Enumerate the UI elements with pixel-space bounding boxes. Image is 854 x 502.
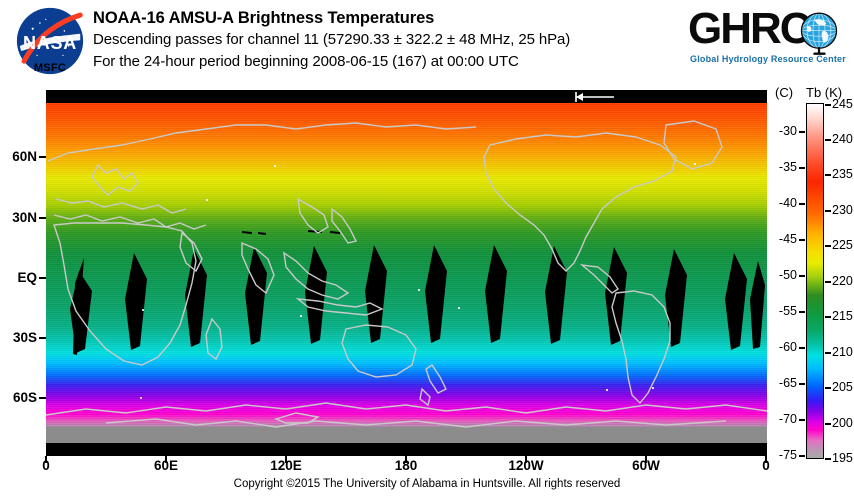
globe-icon bbox=[796, 10, 842, 56]
colorbar-clabel-m60: -60 bbox=[765, 340, 797, 354]
ghrc-logo-tagline: Global Hydrology Resource Center bbox=[690, 54, 846, 64]
y-label-30n: 30N bbox=[0, 210, 37, 225]
page-title: NOAA-16 AMSU-A Brightness Temperatures bbox=[93, 8, 693, 29]
colorbar-ctick-m35 bbox=[799, 167, 805, 169]
colorbar-ktick-205 bbox=[825, 387, 831, 389]
y-tick-60n bbox=[39, 156, 46, 158]
y-tick-30s bbox=[39, 337, 46, 339]
colorbar-klabel-205: 205 bbox=[832, 380, 854, 394]
colorbar-ctick-m30 bbox=[799, 131, 805, 133]
colorbar-klabel-220: 220 bbox=[832, 274, 854, 288]
colorbar-ctick-m65 bbox=[799, 383, 805, 385]
colorbar-ktick-220 bbox=[825, 281, 831, 283]
y-tick-60s bbox=[39, 397, 46, 399]
colorbar-ktick-225 bbox=[825, 245, 831, 247]
colorbar-celsius-header: (C) bbox=[775, 85, 793, 100]
colorbar-klabel-210: 210 bbox=[832, 345, 854, 359]
colorbar-clabel-m70: -70 bbox=[765, 412, 797, 426]
coastlines bbox=[46, 121, 767, 427]
screenshot-root: NASA MSFC NOAA-16 AMSU-A Brightness Temp… bbox=[0, 0, 854, 502]
colorbar-clabel-m45: -45 bbox=[765, 232, 797, 246]
colorbar-klabel-230: 230 bbox=[832, 203, 854, 217]
colorbar-ktick-210 bbox=[825, 352, 831, 354]
x-label-0e: 0 bbox=[16, 458, 76, 473]
copyright-notice: Copyright ©2015 The University of Alabam… bbox=[0, 478, 854, 490]
colorbar-ktick-200 bbox=[825, 423, 831, 425]
colorbar-klabel-245: 245 bbox=[832, 97, 854, 111]
colorbar[interactable]: -30 -35 -40 -45 -50 -55 -60 -65 -70 -75 … bbox=[806, 103, 824, 459]
colorbar-klabel-215: 215 bbox=[832, 309, 854, 323]
colorbar-ktick-240 bbox=[825, 139, 831, 141]
map-plot[interactable] bbox=[46, 90, 767, 456]
y-tick-eq bbox=[39, 277, 46, 279]
colorbar-ktick-235 bbox=[825, 174, 831, 176]
ghrc-logo-text: GHRC bbox=[688, 4, 810, 54]
colorbar-ctick-m55 bbox=[799, 311, 805, 313]
x-label-60e: 60E bbox=[136, 458, 196, 473]
colorbar-ktick-230 bbox=[825, 210, 831, 212]
colorbar-ctick-m40 bbox=[799, 203, 805, 205]
colorbar-ctick-m75 bbox=[799, 455, 805, 457]
colorbar-clabel-m55: -55 bbox=[765, 304, 797, 318]
colorbar-clabel-m40: -40 bbox=[765, 196, 797, 210]
colorbar-ctick-m70 bbox=[799, 419, 805, 421]
colorbar-clabel-m35: -35 bbox=[765, 160, 797, 174]
colorbar-clabel-m65: -65 bbox=[765, 376, 797, 390]
y-tick-30n bbox=[39, 217, 46, 219]
svg-text:NASA: NASA bbox=[23, 33, 77, 53]
colorbar-clabel-m75: -75 bbox=[765, 448, 797, 462]
y-label-30s: 30S bbox=[0, 330, 37, 345]
colorbar-klabel-200: 200 bbox=[832, 416, 854, 430]
y-label-eq: EQ bbox=[0, 270, 37, 285]
nasa-center-label: MSFC bbox=[14, 62, 86, 74]
orbit-direction-marker bbox=[570, 90, 618, 104]
colorbar-klabel-225: 225 bbox=[832, 238, 854, 252]
y-label-60s: 60S bbox=[0, 390, 37, 405]
x-label-180: 180 bbox=[376, 458, 436, 473]
colorbar-ktick-215 bbox=[825, 316, 831, 318]
colorbar-gradient bbox=[806, 103, 824, 459]
colorbar-ktick-245 bbox=[825, 104, 831, 106]
colorbar-ktick-195 bbox=[825, 458, 831, 460]
page-subtitle-channel: Descending passes for channel 11 (57290.… bbox=[93, 29, 693, 51]
colorbar-clabel-m50: -50 bbox=[765, 268, 797, 282]
colorbar-klabel-240: 240 bbox=[832, 132, 854, 146]
ghrc-logo: GHRC Global Hydrology Resource Center bbox=[688, 4, 844, 74]
colorbar-ctick-m50 bbox=[799, 275, 805, 277]
map-overlay bbox=[46, 103, 767, 443]
colorbar-ctick-m45 bbox=[799, 239, 805, 241]
colorbar-ctick-m60 bbox=[799, 347, 805, 349]
page-subtitle-period: For the 24-hour period beginning 2008-06… bbox=[93, 51, 693, 73]
colorbar-clabel-m30: -30 bbox=[765, 124, 797, 138]
colorbar-klabel-195: 195 bbox=[832, 451, 854, 465]
colorbar-klabel-235: 235 bbox=[832, 167, 854, 181]
map-canvas bbox=[46, 103, 767, 443]
title-block: NOAA-16 AMSU-A Brightness Temperatures D… bbox=[93, 8, 693, 73]
x-label-120w: 120W bbox=[496, 458, 556, 473]
x-label-120e: 120E bbox=[256, 458, 316, 473]
y-label-60n: 60N bbox=[0, 149, 37, 164]
x-label-60w: 60W bbox=[616, 458, 676, 473]
